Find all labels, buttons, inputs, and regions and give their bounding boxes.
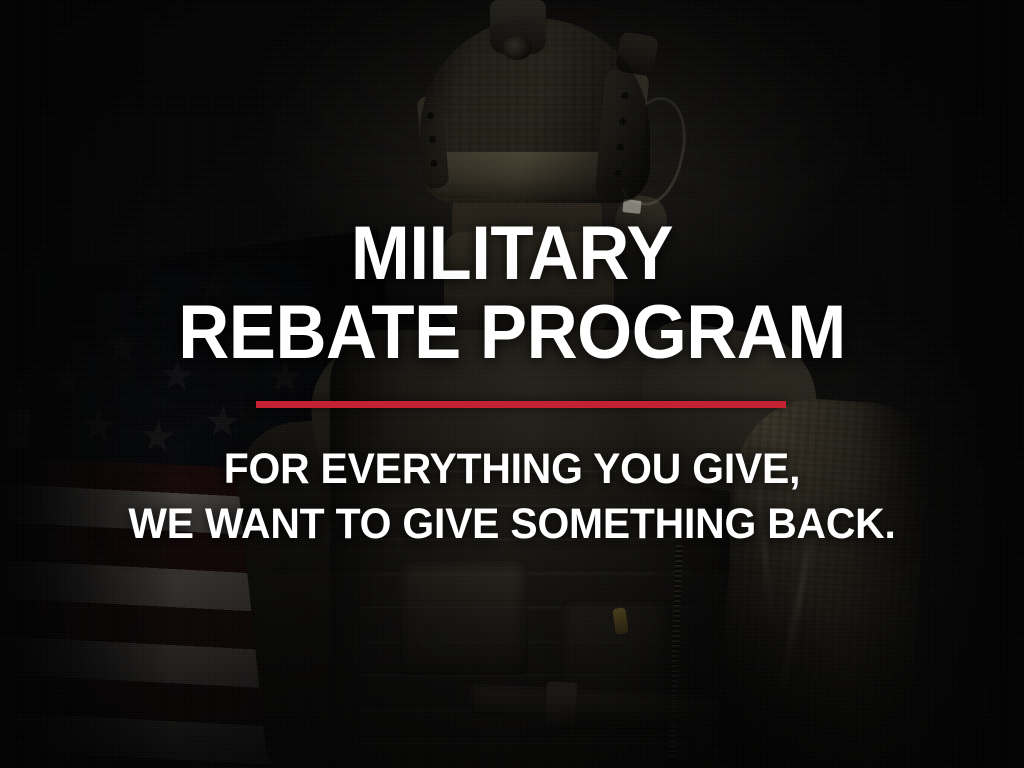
red-divider-rule (256, 401, 786, 408)
headline-line-2: REBATE PROGRAM (36, 297, 988, 370)
poster-canvas: MILITARY REBATE PROGRAM FOR EVERYTHING Y… (0, 0, 1024, 768)
subheadline-line-2: WE WANT TO GIVE SOMETHING BACK. (26, 503, 999, 546)
subheadline-line-1: FOR EVERYTHING YOU GIVE, (26, 448, 999, 491)
text-overlay: MILITARY REBATE PROGRAM FOR EVERYTHING Y… (0, 0, 1024, 768)
headline-line-1: MILITARY (36, 218, 988, 291)
